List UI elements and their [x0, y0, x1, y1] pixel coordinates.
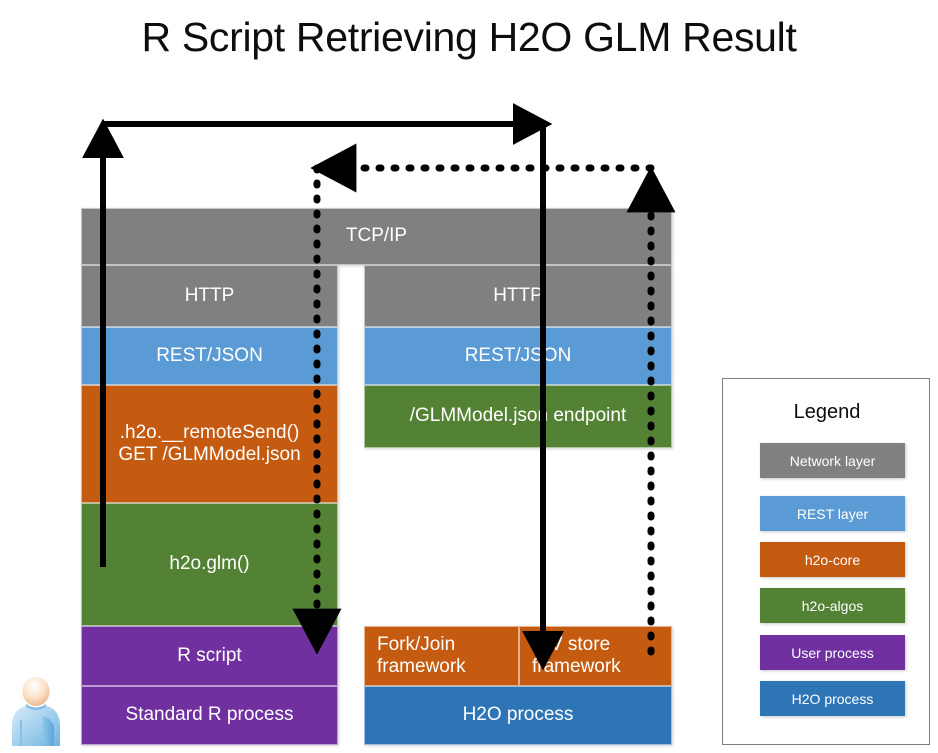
block-right-fork-join-label-line1: Fork/Join — [377, 634, 455, 656]
block-right-glmmodel-endpoint-label: /GLMModel.json endpoint — [410, 405, 627, 427]
legend-item-user-process-label: User process — [791, 645, 873, 661]
block-tcpip: TCP/IP — [81, 208, 672, 265]
legend-title: Legend — [723, 401, 931, 424]
block-left-rest-json-label: REST/JSON — [156, 345, 263, 367]
page-title: R Script Retrieving H2O GLM Result — [0, 14, 938, 61]
block-left-http: HTTP — [81, 265, 338, 327]
legend-item-rest-layer: REST layer — [760, 496, 905, 531]
legend-panel: Legend Network layer REST layer h2o-core… — [722, 378, 930, 745]
legend-item-h2o-process-label: H2O process — [792, 691, 874, 707]
block-right-kv-store-label-line1: K/V store — [532, 634, 610, 656]
block-left-http-label: HTTP — [185, 285, 235, 307]
block-right-h2o-process: H2O process — [364, 686, 672, 745]
legend-item-h2o-core-label: h2o-core — [805, 552, 860, 568]
legend-item-network-layer: Network layer — [760, 443, 905, 478]
block-tcpip-label: TCP/IP — [346, 225, 407, 247]
legend-item-h2o-algos-label: h2o-algos — [802, 598, 864, 614]
block-left-remotesend: .h2o.__remoteSend() GET /GLMModel.json — [81, 385, 338, 503]
block-right-h2o-process-label: H2O process — [463, 704, 574, 726]
block-right-fork-join-label-line2: framework — [377, 656, 466, 678]
block-right-glmmodel-endpoint: /GLMModel.json endpoint — [364, 385, 672, 448]
legend-item-h2o-algos: h2o-algos — [760, 588, 905, 623]
block-left-standard-r-process-label: Standard R process — [126, 704, 294, 726]
block-left-h2o-glm-label: h2o.glm() — [169, 553, 249, 575]
block-right-rest-json-label: REST/JSON — [465, 345, 572, 367]
block-right-http-label: HTTP — [493, 285, 543, 307]
block-right-rest-json: REST/JSON — [364, 327, 672, 385]
legend-item-h2o-core: h2o-core — [760, 542, 905, 577]
legend-item-h2o-process: H2O process — [760, 681, 905, 716]
block-right-http: HTTP — [364, 265, 672, 327]
block-left-r-script: R script — [81, 626, 338, 686]
legend-item-user-process: User process — [760, 635, 905, 670]
legend-item-rest-layer-label: REST layer — [797, 506, 868, 522]
block-left-h2o-glm: h2o.glm() — [81, 503, 338, 626]
block-left-standard-r-process: Standard R process — [81, 686, 338, 745]
block-right-fork-join: Fork/Join framework — [364, 626, 519, 686]
block-left-rest-json: REST/JSON — [81, 327, 338, 385]
block-left-remotesend-label-line2: GET /GLMModel.json — [118, 444, 300, 466]
block-left-r-script-label: R script — [177, 645, 241, 667]
block-right-kv-store: K/V store framework — [519, 626, 672, 686]
block-left-remotesend-label-line1: .h2o.__remoteSend() — [120, 422, 300, 444]
block-right-kv-store-label-line2: framework — [532, 656, 621, 678]
legend-item-network-layer-label: Network layer — [790, 453, 876, 469]
user-avatar-icon — [4, 676, 74, 750]
